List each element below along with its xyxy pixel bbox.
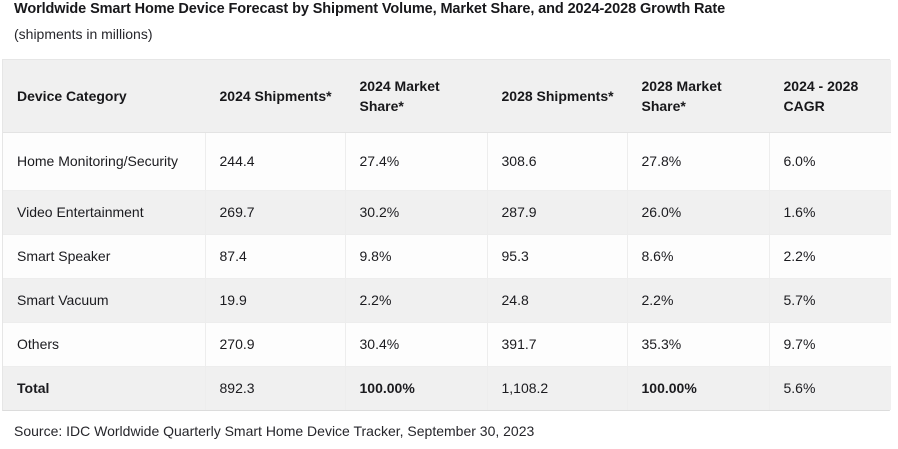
cell-2028-market-share: 27.8% [627, 132, 769, 190]
table-body: Home Monitoring/Security 244.4 27.4% 308… [3, 132, 891, 410]
cell-cagr: 2.2% [769, 234, 891, 278]
forecast-table-page: Worldwide Smart Home Device Forecast by … [0, 0, 898, 449]
column-header-device-category: Device Category [3, 60, 205, 132]
cell-2028-shipments: 308.6 [487, 132, 627, 190]
cell-cagr: 1.6% [769, 190, 891, 234]
cell-cagr: 6.0% [769, 132, 891, 190]
page-subtitle: (shipments in millions) [14, 18, 884, 43]
page-title: Worldwide Smart Home Device Forecast by … [14, 0, 884, 18]
cell-device-category: Home Monitoring/Security [3, 132, 205, 190]
cell-2024-shipments: 87.4 [205, 234, 345, 278]
table-row: Home Monitoring/Security 244.4 27.4% 308… [3, 132, 891, 190]
table-row: Video Entertainment 269.7 30.2% 287.9 26… [3, 190, 891, 234]
cell-device-category: Smart Vacuum [3, 278, 205, 322]
cell-device-category: Others [3, 322, 205, 366]
cell-2024-market-share: 9.8% [345, 234, 487, 278]
table-header: Device Category 2024 Shipments* 2024 Mar… [3, 60, 891, 132]
column-header-cagr: 2024 - 2028 CAGR [769, 60, 891, 132]
cell-2028-market-share: 2.2% [627, 278, 769, 322]
cell-2024-market-share: 30.4% [345, 322, 487, 366]
table-row: Smart Vacuum 19.9 2.2% 24.8 2.2% 5.7% [3, 278, 891, 322]
cell-2028-market-share: 8.6% [627, 234, 769, 278]
cell-2024-market-share: 100.00% [345, 366, 487, 410]
table-header-row: Device Category 2024 Shipments* 2024 Mar… [3, 60, 891, 132]
forecast-table-container: Device Category 2024 Shipments* 2024 Mar… [2, 59, 890, 411]
cell-cagr: 9.7% [769, 322, 891, 366]
cell-2024-shipments: 270.9 [205, 322, 345, 366]
cell-2028-shipments: 1,108.2 [487, 366, 627, 410]
cell-2024-market-share: 27.4% [345, 132, 487, 190]
cell-2028-shipments: 24.8 [487, 278, 627, 322]
cell-device-category: Smart Speaker [3, 234, 205, 278]
table-row-total: Total 892.3 100.00% 1,108.2 100.00% 5.6% [3, 366, 891, 410]
cell-2024-shipments: 892.3 [205, 366, 345, 410]
cell-2024-market-share: 30.2% [345, 190, 487, 234]
cell-2028-shipments: 287.9 [487, 190, 627, 234]
cell-2028-shipments: 391.7 [487, 322, 627, 366]
cell-2028-shipments: 95.3 [487, 234, 627, 278]
cell-2024-market-share: 2.2% [345, 278, 487, 322]
cell-2024-shipments: 19.9 [205, 278, 345, 322]
cell-2024-shipments: 244.4 [205, 132, 345, 190]
table-row: Smart Speaker 87.4 9.8% 95.3 8.6% 2.2% [3, 234, 891, 278]
source-note: Source: IDC Worldwide Quarterly Smart Ho… [0, 411, 898, 440]
cell-2028-market-share: 26.0% [627, 190, 769, 234]
cell-2024-shipments: 269.7 [205, 190, 345, 234]
column-header-2024-market-share: 2024 Market Share* [345, 60, 487, 132]
table-row: Others 270.9 30.4% 391.7 35.3% 9.7% [3, 322, 891, 366]
cell-cagr: 5.6% [769, 366, 891, 410]
cell-2028-market-share: 100.00% [627, 366, 769, 410]
cell-device-category: Total [3, 366, 205, 410]
cell-cagr: 5.7% [769, 278, 891, 322]
column-header-2024-shipments: 2024 Shipments* [205, 60, 345, 132]
column-header-2028-market-share: 2028 Market Share* [627, 60, 769, 132]
column-header-2028-shipments: 2028 Shipments* [487, 60, 627, 132]
forecast-table: Device Category 2024 Shipments* 2024 Mar… [3, 60, 891, 410]
cell-device-category: Video Entertainment [3, 190, 205, 234]
title-block: Worldwide Smart Home Device Forecast by … [0, 0, 898, 43]
cell-2028-market-share: 35.3% [627, 322, 769, 366]
